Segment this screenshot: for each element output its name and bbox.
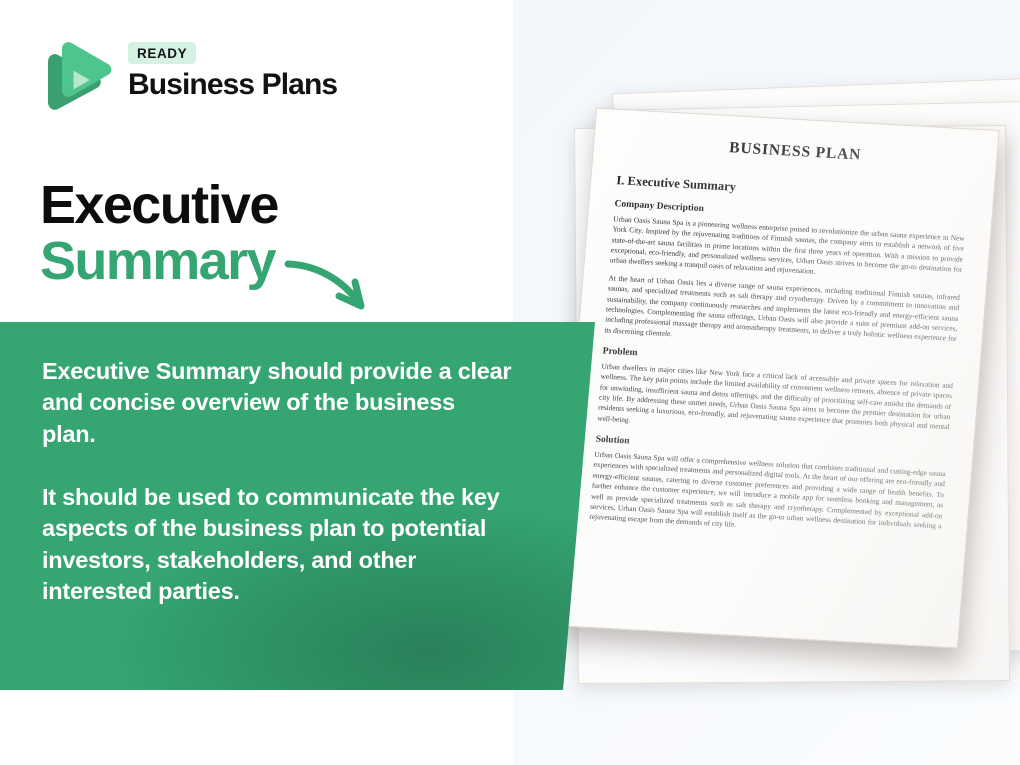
document-page-front[interactable]: BUSINESS PLAN I. Executive Summary Compa…	[554, 108, 999, 649]
green-panel-paragraph-2: It should be used to communicate the key…	[42, 482, 522, 607]
brand-name: Business Plans	[128, 68, 337, 102]
ready-badge: READY	[128, 42, 196, 64]
brand-text: READY Business Plans	[128, 42, 337, 102]
document-paragraph: At the heart of Urban Oasis lies a diver…	[604, 273, 960, 355]
page-title-line-1: Executive	[40, 178, 460, 234]
document-paragraph: Urban dwellers in major cities like New …	[597, 361, 953, 443]
page-title: Executive Summary	[40, 178, 460, 289]
document-paragraph: Urban Oasis Sauna Spa will offer a compr…	[589, 450, 946, 542]
document-content: BUSINESS PLAN I. Executive Summary Compa…	[563, 108, 1000, 544]
brand-lockup[interactable]: READY Business Plans	[40, 38, 370, 118]
curved-arrow-down-right-icon	[282, 252, 382, 322]
green-panel-paragraph-1: Executive Summary should provide a clear…	[42, 356, 512, 450]
double-play-triangle-logo-icon	[40, 40, 114, 116]
document-title: BUSINESS PLAN	[619, 133, 972, 171]
page-title-line-2: Summary	[40, 234, 460, 290]
slide-canvas: BUSINESS PLAN I. Executive Summary Compa…	[0, 0, 1020, 765]
